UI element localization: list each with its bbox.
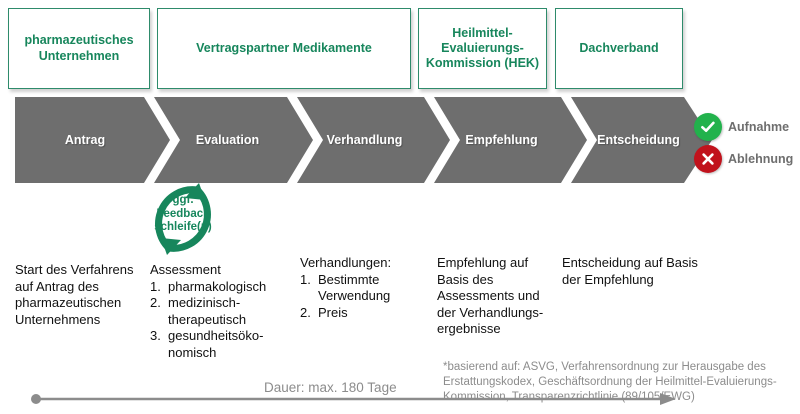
x-circle-icon	[694, 145, 722, 173]
list-item: 3. gesundheitsöko-nomisch	[150, 328, 300, 361]
process-step-entscheidung: Entscheidung	[576, 97, 701, 183]
description-heading: Entscheidung auf Basis der Empfehlung	[562, 255, 702, 288]
description-list: 1. Bestimmte Verwendung 2. Preis	[300, 272, 430, 322]
process-step-verhandlung: Verhandlung	[302, 97, 427, 183]
list-item-text: Bestimmte Verwendung	[318, 272, 390, 304]
check-circle-icon	[694, 113, 722, 141]
outcome-label: Aufnahme	[728, 120, 789, 134]
actor-label: Vertragspartner Medikamente	[196, 41, 372, 56]
timeline-arrowhead	[660, 393, 676, 405]
outcome-aufnahme: Aufnahme	[694, 113, 789, 141]
actor-box-pharmazeutisches-unternehmen: pharmazeutisches Unternehmen	[8, 8, 150, 89]
list-item-text: gesundheitsöko-nomisch	[168, 328, 263, 360]
process-step-empfehlung: Empfehlung	[439, 97, 564, 183]
description-entscheidung: Entscheidung auf Basis der Empfehlung	[562, 255, 702, 288]
list-item: 2. Preis	[300, 305, 430, 322]
description-heading: Assessment	[150, 262, 300, 279]
feedback-loop: ggf. Feedback schleife(n)	[133, 180, 233, 258]
outcome-ablehnung: Ablehnung	[694, 145, 793, 173]
description-empfehlung: Empfehlung auf Basis des Assessments und…	[437, 255, 559, 338]
actor-label: Heilmittel-Evaluierungs-Kommission (HEK)	[423, 26, 542, 72]
feedback-loop-text: ggf. Feedback schleife(n)	[133, 194, 233, 235]
actor-box-heilmittel-evaluierungs-kommission: Heilmittel-Evaluierungs-Kommission (HEK)	[418, 8, 547, 89]
list-item-number: 1.	[300, 272, 311, 289]
list-item: 1. Bestimmte Verwendung	[300, 272, 430, 305]
description-heading: Empfehlung auf Basis des Assessments und…	[437, 255, 559, 338]
list-item: 2. medizinisch-therapeutisch	[150, 295, 300, 328]
description-verhandlung: Verhandlungen: 1. Bestimmte Verwendung 2…	[300, 255, 430, 321]
timeline-arrow	[10, 388, 790, 410]
list-item-number: 2.	[150, 295, 161, 312]
list-item: 1. pharmakologisch	[150, 279, 300, 296]
actor-box-dachverband: Dachverband	[555, 8, 683, 89]
list-item-number: 2.	[300, 305, 311, 322]
outcome-label: Ablehnung	[728, 152, 793, 166]
description-heading: Start des Verfahrens auf Antrag des phar…	[15, 262, 155, 328]
description-antrag: Start des Verfahrens auf Antrag des phar…	[15, 262, 155, 328]
process-chevron-bar: Antrag Evaluation Verhandlung Empfehlung…	[15, 97, 712, 183]
description-evaluation: Assessment 1. pharmakologisch 2. medizin…	[150, 262, 300, 361]
list-item-number: 3.	[150, 328, 161, 345]
actor-label: pharmazeutisches Unternehmen	[13, 33, 145, 64]
process-step-evaluation: Evaluation	[165, 97, 290, 183]
process-step-antrag: Antrag	[15, 97, 155, 183]
list-item-text: pharmakologisch	[168, 279, 266, 294]
list-item-number: 1.	[150, 279, 161, 296]
description-list: 1. pharmakologisch 2. medizinisch-therap…	[150, 279, 300, 362]
diagram-canvas: pharmazeutisches Unternehmen Vertragspar…	[0, 0, 800, 414]
feedback-line-1: ggf.	[133, 194, 233, 208]
list-item-text: medizinisch-therapeutisch	[168, 295, 246, 327]
actor-box-vertragspartner-medikamente: Vertragspartner Medikamente	[157, 8, 411, 89]
actor-label: Dachverband	[579, 41, 658, 56]
description-heading: Verhandlungen:	[300, 255, 430, 272]
feedback-line-3: schleife(n)	[133, 221, 233, 235]
list-item-text: Preis	[318, 305, 348, 320]
feedback-line-2: Feedback	[133, 208, 233, 222]
